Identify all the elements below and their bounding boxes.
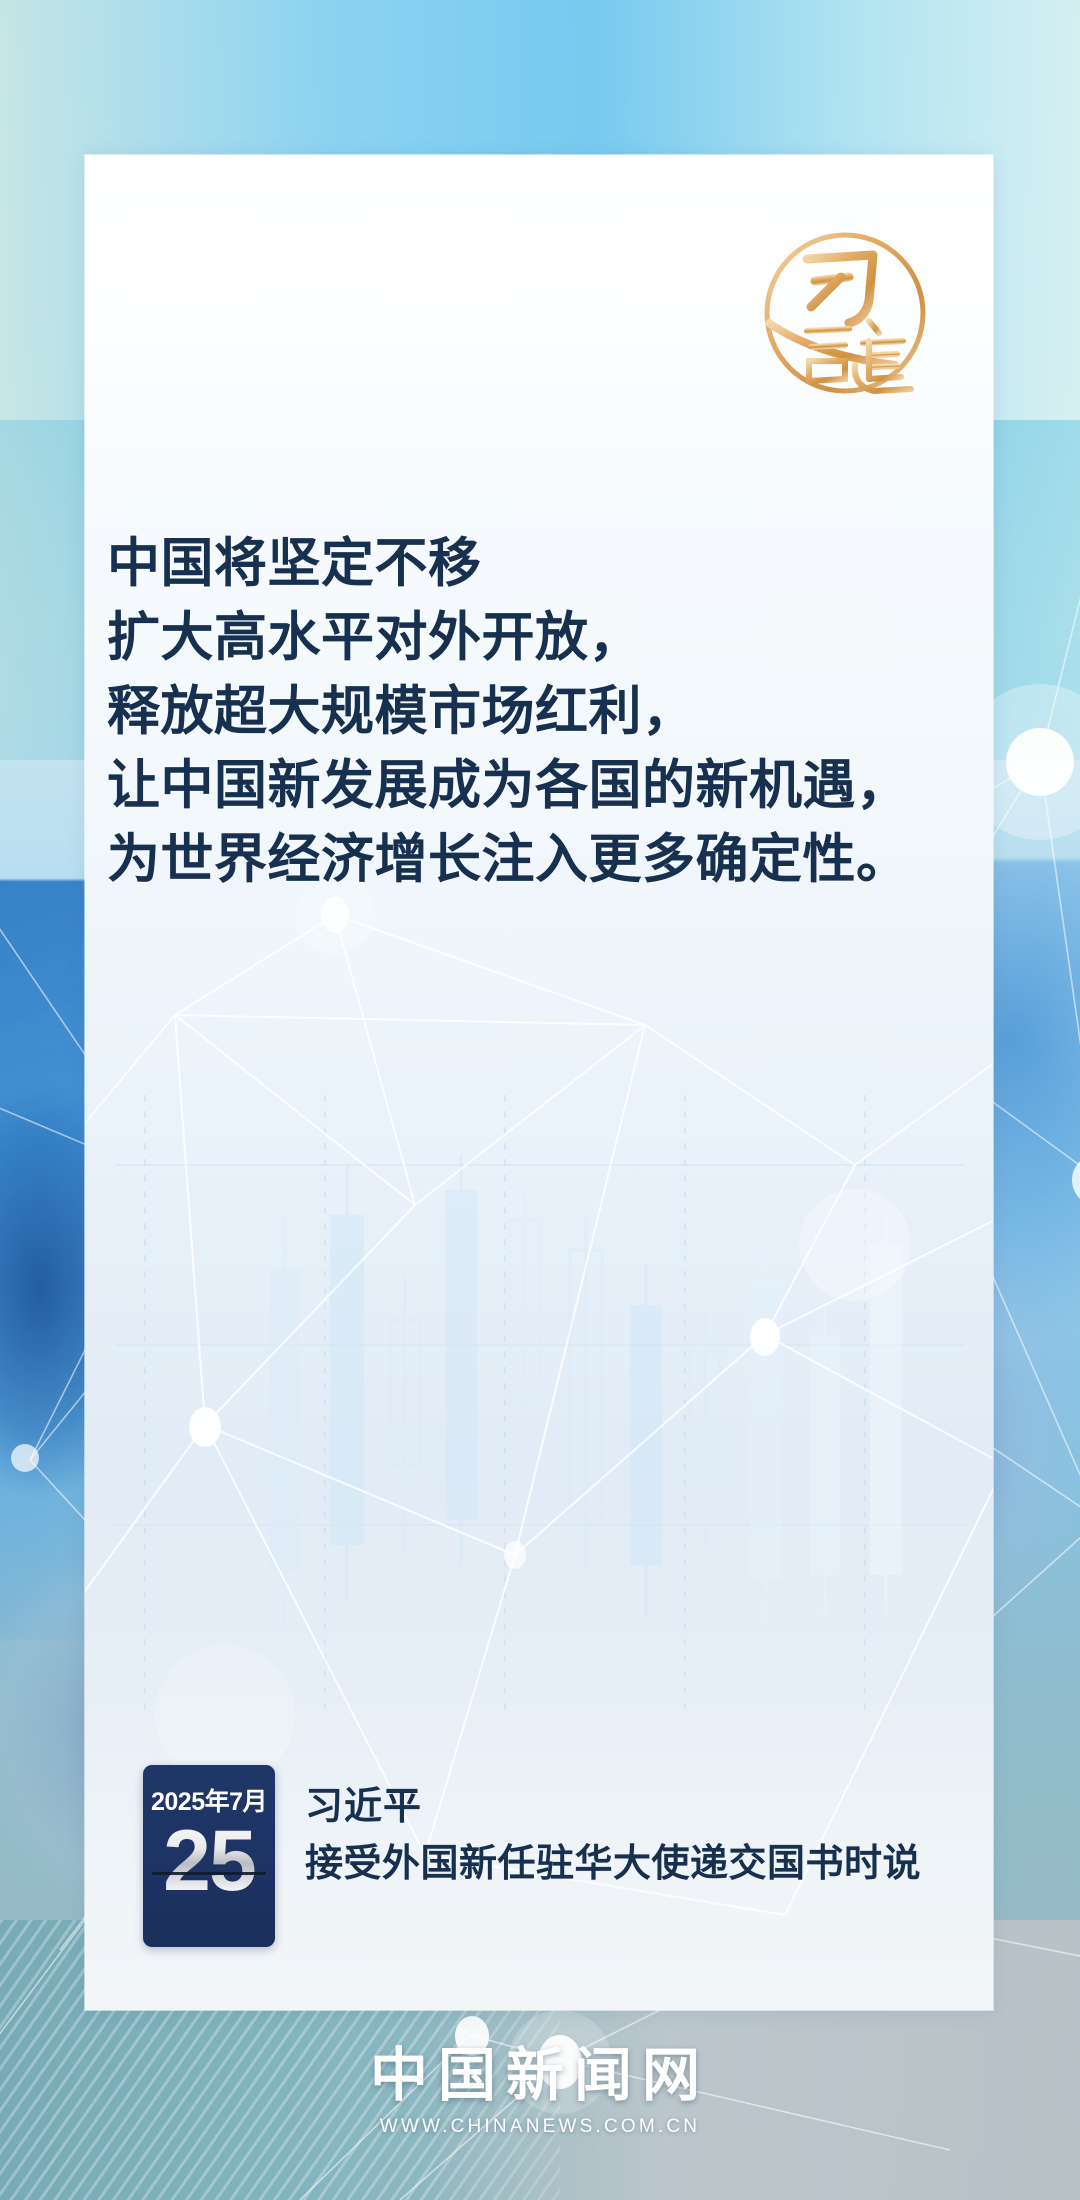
xiyandao-seal-logo [745,215,945,415]
quote-block: 中国将坚定不移 扩大高水平对外开放， 释放超大规模市场红利， 让中国新发展成为各… [107,527,987,897]
credit-block: 2025年7月 25 习近平 接受外国新任驻华大使递交国书时说 [143,1765,983,1965]
speaker-name: 习近平 [305,1779,921,1835]
quote-line-3: 释放超大规模市场红利， [107,675,987,749]
quote-line-5: 为世界经济增长注入更多确定性。 [107,823,987,897]
chinanews-url: WWW.CHINANEWS.COM.CN [0,2116,1080,2138]
date-flip-line [152,1872,266,1875]
card-network-mesh-graphic [85,155,993,2010]
card-background-art [85,155,993,2010]
date-badge: 2025年7月 25 [143,1765,275,1947]
attribution-block: 习近平 接受外国新任驻华大使递交国书时说 [305,1765,921,1893]
footer-branding: 中国新闻网 WWW.CHINANEWS.COM.CN [0,2040,1080,2138]
date-day: 25 [143,1809,275,1913]
poster-card: 中国将坚定不移 扩大高水平对外开放， 释放超大规模市场红利， 让中国新发展成为各… [85,155,993,2010]
chinanews-logo-text: 中国新闻网 [0,2040,1080,2112]
speech-occasion: 接受外国新任驻华大使递交国书时说 [305,1835,921,1893]
quote-line-1: 中国将坚定不移 [107,527,987,601]
quote-line-4: 让中国新发展成为各国的新机遇， [107,749,987,823]
seal-icon [745,215,945,415]
quote-line-2: 扩大高水平对外开放， [107,601,987,675]
